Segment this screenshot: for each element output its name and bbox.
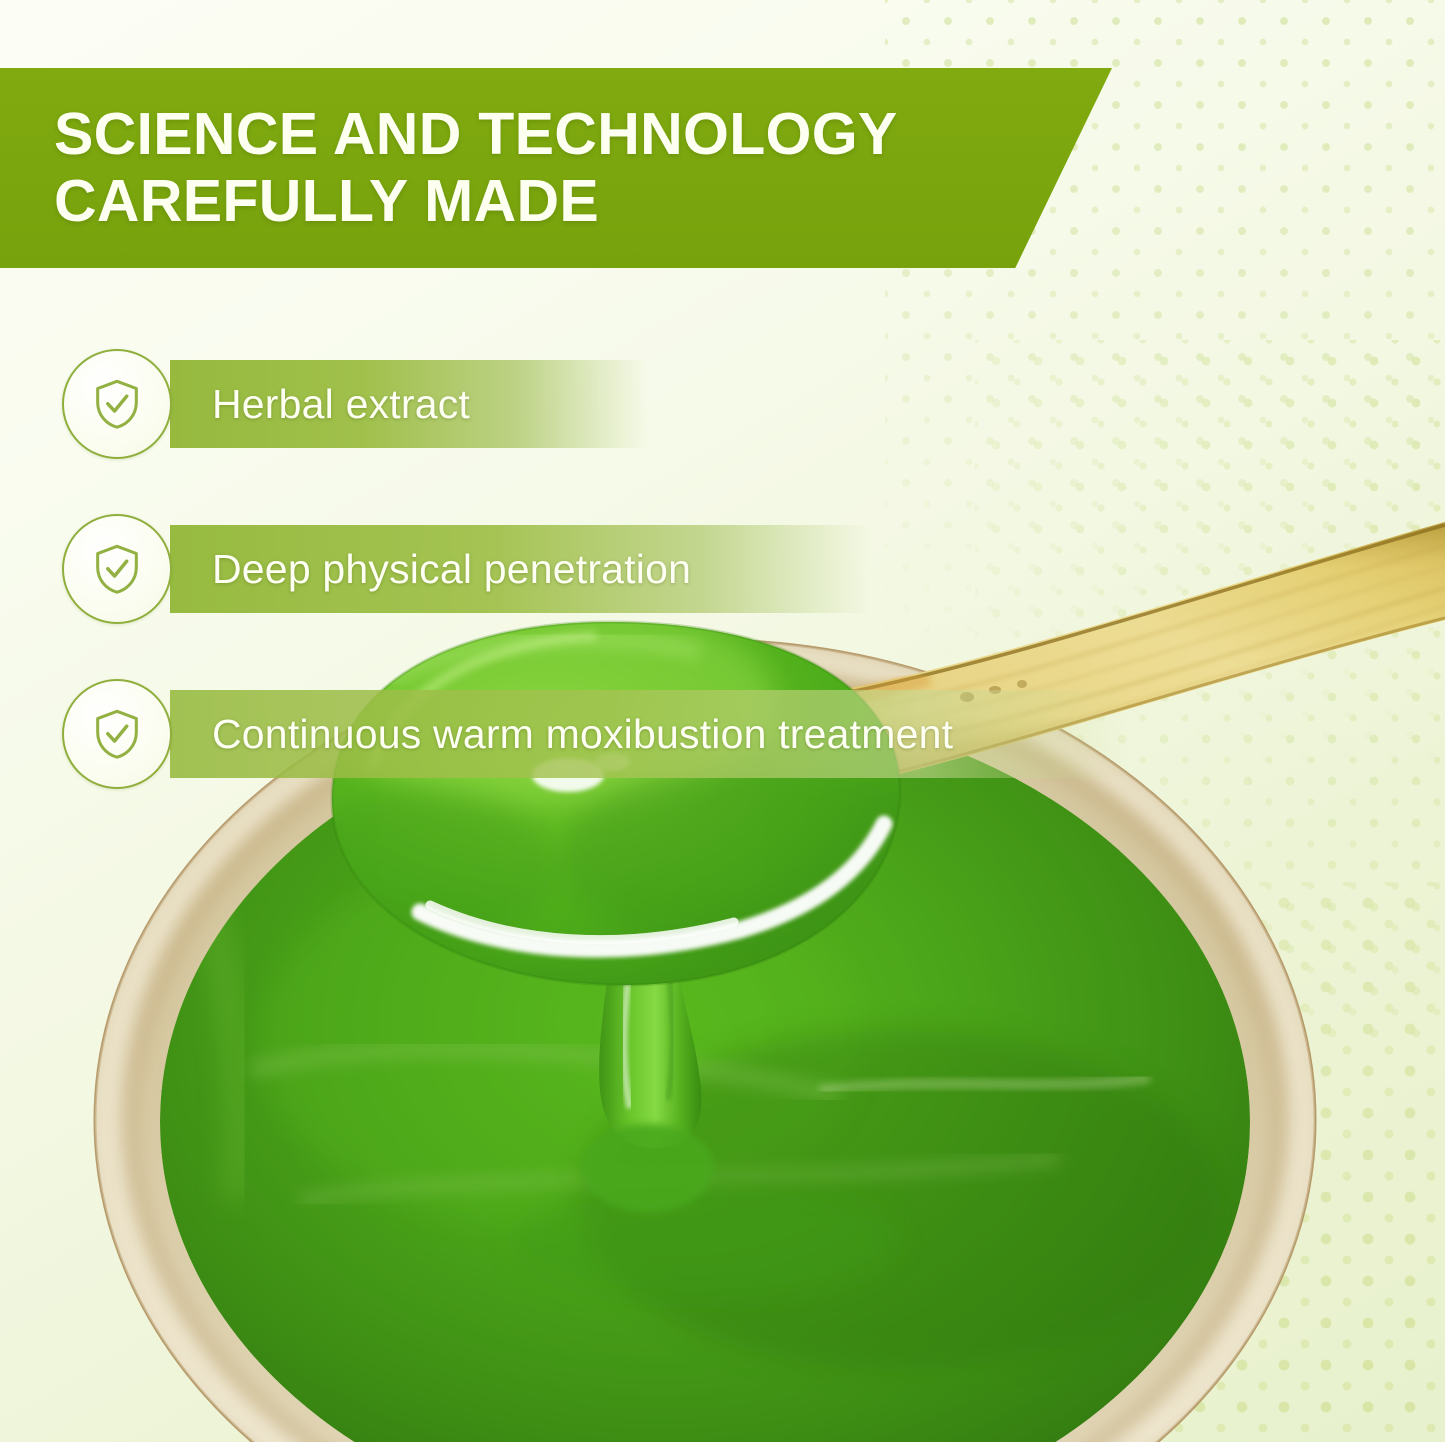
feature-badge [62,349,172,459]
shield-check-icon [88,540,146,598]
paste-drip [582,930,714,1212]
feature-label: Continuous warm moxibustion treatment [212,711,953,758]
feature-list: Herbal extract Deep physical penetration… [0,360,1445,778]
feature-badge [62,679,172,789]
paste-pool [160,704,1250,1442]
shield-check-icon [88,705,146,763]
feature-badge [62,514,172,624]
feature-row[interactable]: Herbal extract [0,360,1445,448]
product-infographic: SCIENCE AND TECHNOLOGY CAREFULLY MADE He… [0,0,1445,1442]
feature-label: Deep physical penetration [212,546,691,593]
header-banner: SCIENCE AND TECHNOLOGY CAREFULLY MADE [0,68,1112,268]
feature-row[interactable]: Deep physical penetration [0,525,1445,613]
shield-check-icon [88,375,146,433]
feature-label: Herbal extract [212,381,470,428]
page-title: SCIENCE AND TECHNOLOGY CAREFULLY MADE [54,101,898,234]
halftone-dots-bottom [885,882,1445,1442]
feature-row[interactable]: Continuous warm moxibustion treatment [0,690,1445,778]
